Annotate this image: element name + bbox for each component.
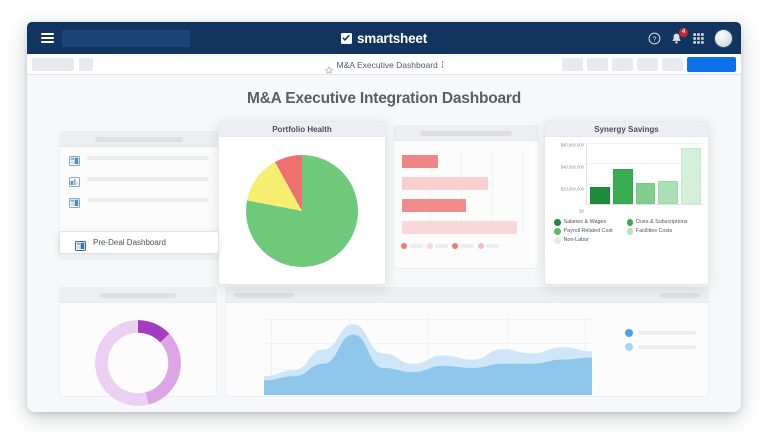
- legend-swatch: [478, 243, 484, 249]
- toolbar-action-button[interactable]: [587, 58, 608, 71]
- plot-area: [586, 143, 703, 205]
- bar: [681, 148, 701, 204]
- legend-item[interactable]: [625, 343, 696, 351]
- legend-swatch: [625, 329, 633, 337]
- notification-badge: 4: [679, 28, 688, 37]
- brand-name: smartsheet: [357, 31, 427, 46]
- legend-item[interactable]: [401, 243, 423, 249]
- widget-title-placeholder: [100, 293, 176, 298]
- donut-chart: [60, 303, 216, 395]
- legend-label: Non-Labor: [564, 237, 589, 243]
- bar: [636, 183, 656, 204]
- toolbar-button-group[interactable]: [79, 58, 93, 71]
- y-axis-tick: $40,000,000: [561, 165, 584, 170]
- help-circle-icon[interactable]: ?: [648, 32, 661, 45]
- bar: [402, 221, 517, 234]
- widget-title: Portfolio Health: [272, 125, 332, 134]
- legend-swatch: [625, 343, 633, 351]
- svg-text:?: ?: [653, 36, 657, 43]
- hamburger-menu-icon[interactable]: [34, 33, 60, 43]
- list-item[interactable]: [60, 168, 218, 189]
- dashboard-icon: [69, 153, 80, 163]
- bar: [402, 199, 466, 212]
- widget-header: Portfolio Health: [219, 122, 385, 137]
- legend-item[interactable]: [452, 243, 474, 249]
- bell-notification-icon[interactable]: 4: [670, 32, 683, 45]
- bar-series: [590, 143, 701, 204]
- global-header: smartsheet ? 4: [27, 22, 741, 54]
- synergy-savings-widget: Synergy Savings $60,000,000$40,000,000$2…: [544, 121, 709, 285]
- share-button[interactable]: [687, 57, 736, 72]
- bar: [613, 169, 633, 204]
- widget-header: Synergy Savings: [545, 122, 708, 137]
- risk-breakdown-widget: [393, 125, 539, 269]
- legend-item[interactable]: [427, 243, 449, 249]
- toolbar-right-group: [562, 54, 736, 75]
- portfolio-health-widget: Portfolio Health: [218, 121, 386, 285]
- y-axis-tick: $0: [579, 209, 584, 214]
- bar: [402, 177, 488, 190]
- legend-item[interactable]: Non-Labor: [554, 237, 627, 244]
- legend-label: [435, 244, 448, 248]
- dashboard-title: M&A Executive Integration Dashboard: [27, 75, 741, 108]
- legend-label: [638, 331, 696, 335]
- tooltip-label: Pre-Deal Dashboard: [93, 238, 166, 247]
- donut-chart-slices: [95, 320, 181, 406]
- widget-header: [60, 288, 216, 303]
- list-item[interactable]: [60, 189, 218, 210]
- legend-label: Salaries & Wages: [564, 219, 607, 225]
- legend-item[interactable]: Payroll Related Cost: [554, 228, 627, 235]
- horizontal-bar-chart: [394, 141, 538, 239]
- user-avatar[interactable]: [714, 29, 733, 48]
- legend-item[interactable]: [625, 329, 696, 337]
- legend-item[interactable]: Dues & Subscriptions: [627, 219, 700, 226]
- shortcut-tooltip[interactable]: Pre-Deal Dashboard: [59, 231, 219, 254]
- legend-swatch: [627, 219, 634, 226]
- legend-swatch: [554, 228, 561, 235]
- legend-label: [638, 345, 696, 349]
- bar-chart: $60,000,000$40,000,000$20,000,000$0: [545, 137, 708, 217]
- header-actions: ? 4: [648, 22, 733, 54]
- legend-swatch: [452, 243, 458, 249]
- widget-title-placeholder: [234, 293, 294, 298]
- bar: [402, 155, 438, 168]
- legend-item[interactable]: Facilities Costs: [627, 228, 700, 235]
- bar-series: [402, 150, 530, 234]
- list-item-label: [87, 156, 209, 160]
- chart-legend: [625, 329, 696, 351]
- more-vertical-icon[interactable]: [442, 61, 444, 68]
- dashboard-icon: [75, 238, 86, 248]
- legend-label: Payroll Related Cost: [564, 228, 613, 234]
- bar: [658, 181, 678, 204]
- widget-header: [394, 126, 538, 141]
- y-axis-tick: $60,000,000: [561, 143, 584, 148]
- legend-label: [461, 244, 474, 248]
- page-title: M&A Executive Dashboard: [337, 60, 438, 70]
- plot-area: [264, 317, 592, 395]
- legend-item[interactable]: [478, 243, 500, 249]
- chart-legend: Salaries & WagesDues & SubscriptionsPayr…: [545, 217, 708, 246]
- y-axis-labels: $60,000,000$40,000,000$20,000,000$0: [548, 143, 584, 211]
- legend-label: Facilities Costs: [636, 228, 672, 234]
- widget-title: Synergy Savings: [594, 125, 658, 134]
- document-toolbar: M&A Executive Dashboard: [27, 54, 741, 75]
- list-item-label: [87, 198, 209, 202]
- chart-legend: [394, 239, 538, 253]
- toolbar-action-button[interactable]: [562, 58, 583, 71]
- y-axis-tick: $20,000,000: [561, 187, 584, 192]
- grid-apps-icon[interactable]: [692, 32, 705, 45]
- legend-swatch: [427, 243, 433, 249]
- legend-label: [486, 244, 499, 248]
- integration-progress-widget: [59, 287, 217, 397]
- legend-swatch: [401, 243, 407, 249]
- legend-swatch: [627, 228, 634, 235]
- area-chart: [226, 303, 708, 395]
- widget-header: [226, 288, 708, 303]
- pie-chart-slices: [246, 155, 358, 267]
- legend-item[interactable]: Salaries & Wages: [554, 219, 627, 226]
- legend-label: Dues & Subscriptions: [636, 219, 688, 225]
- toolbar-left-group: [27, 58, 93, 71]
- dashboard-canvas: M&A Executive Integration Dashboard: [27, 75, 741, 412]
- list-item-label: [87, 177, 209, 181]
- star-outline-icon[interactable]: [325, 61, 333, 69]
- legend-swatch: [554, 219, 561, 226]
- toolbar-button-group[interactable]: [32, 58, 74, 71]
- screenshot-root: smartsheet ? 4: [0, 0, 768, 432]
- legend-label: [410, 244, 423, 248]
- synergy-trend-widget: [225, 287, 709, 397]
- checkbox-logo-icon: [341, 33, 352, 44]
- legend-swatch: [554, 237, 561, 244]
- widget-title-placeholder: [420, 131, 512, 136]
- toolbar-action-button[interactable]: [612, 58, 633, 71]
- widget-header: [60, 132, 218, 147]
- widget-title-placeholder: [95, 137, 183, 142]
- dashboard-icon: [69, 174, 80, 184]
- list-item[interactable]: [60, 147, 218, 168]
- widget-action-placeholder[interactable]: [660, 293, 700, 298]
- toolbar-action-button[interactable]: [662, 58, 683, 71]
- toolbar-action-button[interactable]: [637, 58, 658, 71]
- area-series: [264, 317, 592, 395]
- global-search-input[interactable]: [62, 30, 190, 47]
- bar: [590, 187, 610, 204]
- dashboard-icon: [69, 195, 80, 205]
- pie-chart: [219, 137, 385, 285]
- app-window: smartsheet ? 4: [27, 22, 741, 412]
